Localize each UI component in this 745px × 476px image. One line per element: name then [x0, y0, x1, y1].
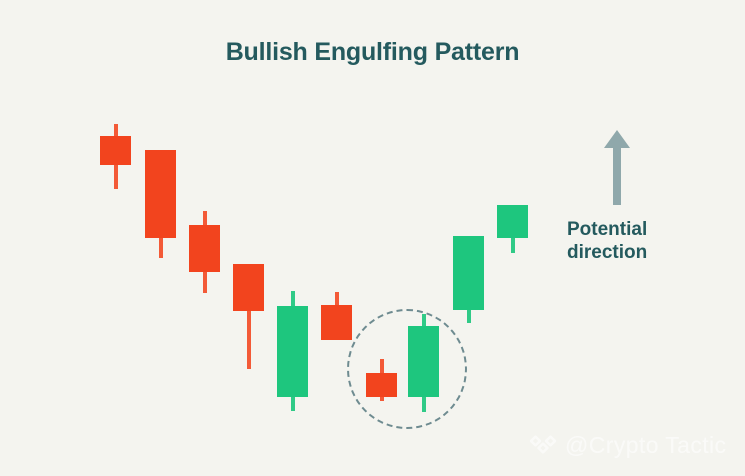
candle-body — [233, 264, 264, 311]
candle-body — [453, 236, 484, 310]
annotation-label-line1: Potential — [567, 218, 717, 241]
annotation-label-line2: direction — [567, 241, 717, 264]
candle-body — [321, 305, 352, 340]
watermark-text: @Crypto Tactic — [565, 432, 726, 459]
candlestick-chart-canvas: Bullish Engulfing Pattern Potential dire… — [0, 0, 745, 476]
candle-body — [277, 306, 308, 397]
up-arrow-icon — [600, 130, 634, 205]
annotation-label: Potential direction — [567, 218, 717, 264]
candle-body — [145, 150, 176, 238]
candle-body — [189, 225, 220, 272]
candle-body — [100, 136, 131, 165]
crypto-tactic-logo-icon — [528, 433, 558, 459]
pattern-highlight-circle — [347, 309, 467, 429]
candle-body — [497, 205, 528, 238]
watermark: @Crypto Tactic — [528, 432, 726, 459]
page-title: Bullish Engulfing Pattern — [0, 38, 745, 67]
